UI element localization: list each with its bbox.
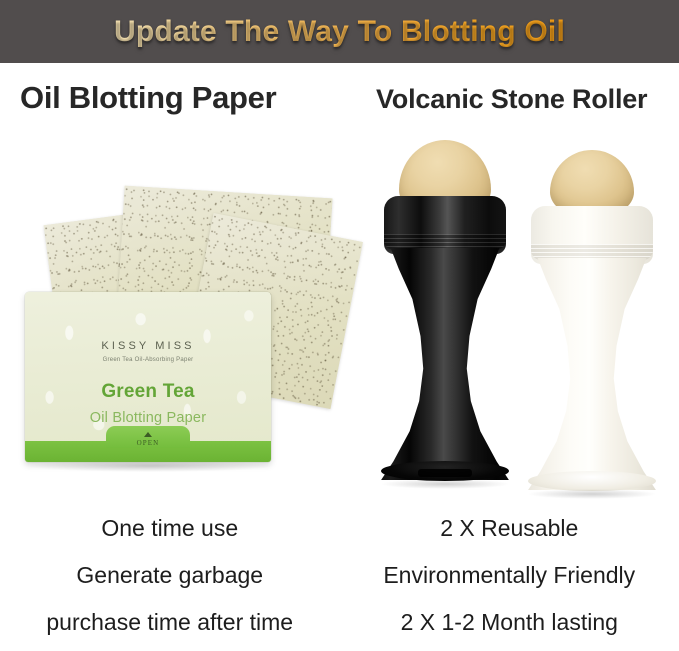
white-volcanic-stone-roller — [517, 150, 667, 495]
feature-item: Generate garbage — [0, 552, 340, 599]
roller-base — [528, 471, 656, 491]
oil-blotting-paper-product-image: KISSY MISS Green Tea Oil-Absorbing Paper… — [0, 130, 345, 500]
roller-base-notch — [418, 469, 472, 477]
roller-collar — [531, 206, 653, 264]
package-product-title: Green Tea — [101, 381, 194, 403]
roller-body — [524, 258, 660, 490]
package-brand-subtitle: Green Tea Oil-Absorbing Paper — [103, 357, 194, 363]
right-column-heading: Volcanic Stone Roller — [376, 84, 647, 115]
package-open-label: OPEN — [137, 439, 160, 447]
feature-item: 2 X 1-2 Month lasting — [340, 599, 679, 646]
package-product-subtitle: Oil Blotting Paper — [90, 410, 206, 426]
roller-body — [377, 248, 513, 480]
page-title: Update The Way To Blotting Oil — [114, 15, 565, 49]
roller-collar — [384, 196, 506, 254]
open-arrow-icon — [144, 432, 152, 437]
left-column-heading: Oil Blotting Paper — [20, 80, 276, 116]
feature-item: One time use — [0, 505, 340, 552]
collar-ridge-rings — [531, 244, 653, 260]
roller-shadow — [527, 489, 657, 499]
package-brand-name: KISSY MISS — [101, 340, 194, 352]
right-feature-list: 2 X Reusable Environmentally Friendly 2 … — [340, 505, 679, 646]
blotting-paper-package-box: KISSY MISS Green Tea Oil-Absorbing Paper… — [25, 292, 271, 462]
black-volcanic-stone-roller — [370, 140, 520, 485]
feature-item: Environmentally Friendly — [340, 552, 679, 599]
collar-ridge-rings — [384, 234, 506, 250]
feature-item: 2 X Reusable — [340, 505, 679, 552]
header-banner: Update The Way To Blotting Oil — [0, 0, 679, 63]
left-feature-list: One time use Generate garbage purchase t… — [0, 505, 340, 646]
volcanic-stone-roller-product-image — [345, 130, 679, 500]
feature-item: purchase time after time — [0, 599, 340, 646]
roller-shadow — [380, 479, 510, 489]
